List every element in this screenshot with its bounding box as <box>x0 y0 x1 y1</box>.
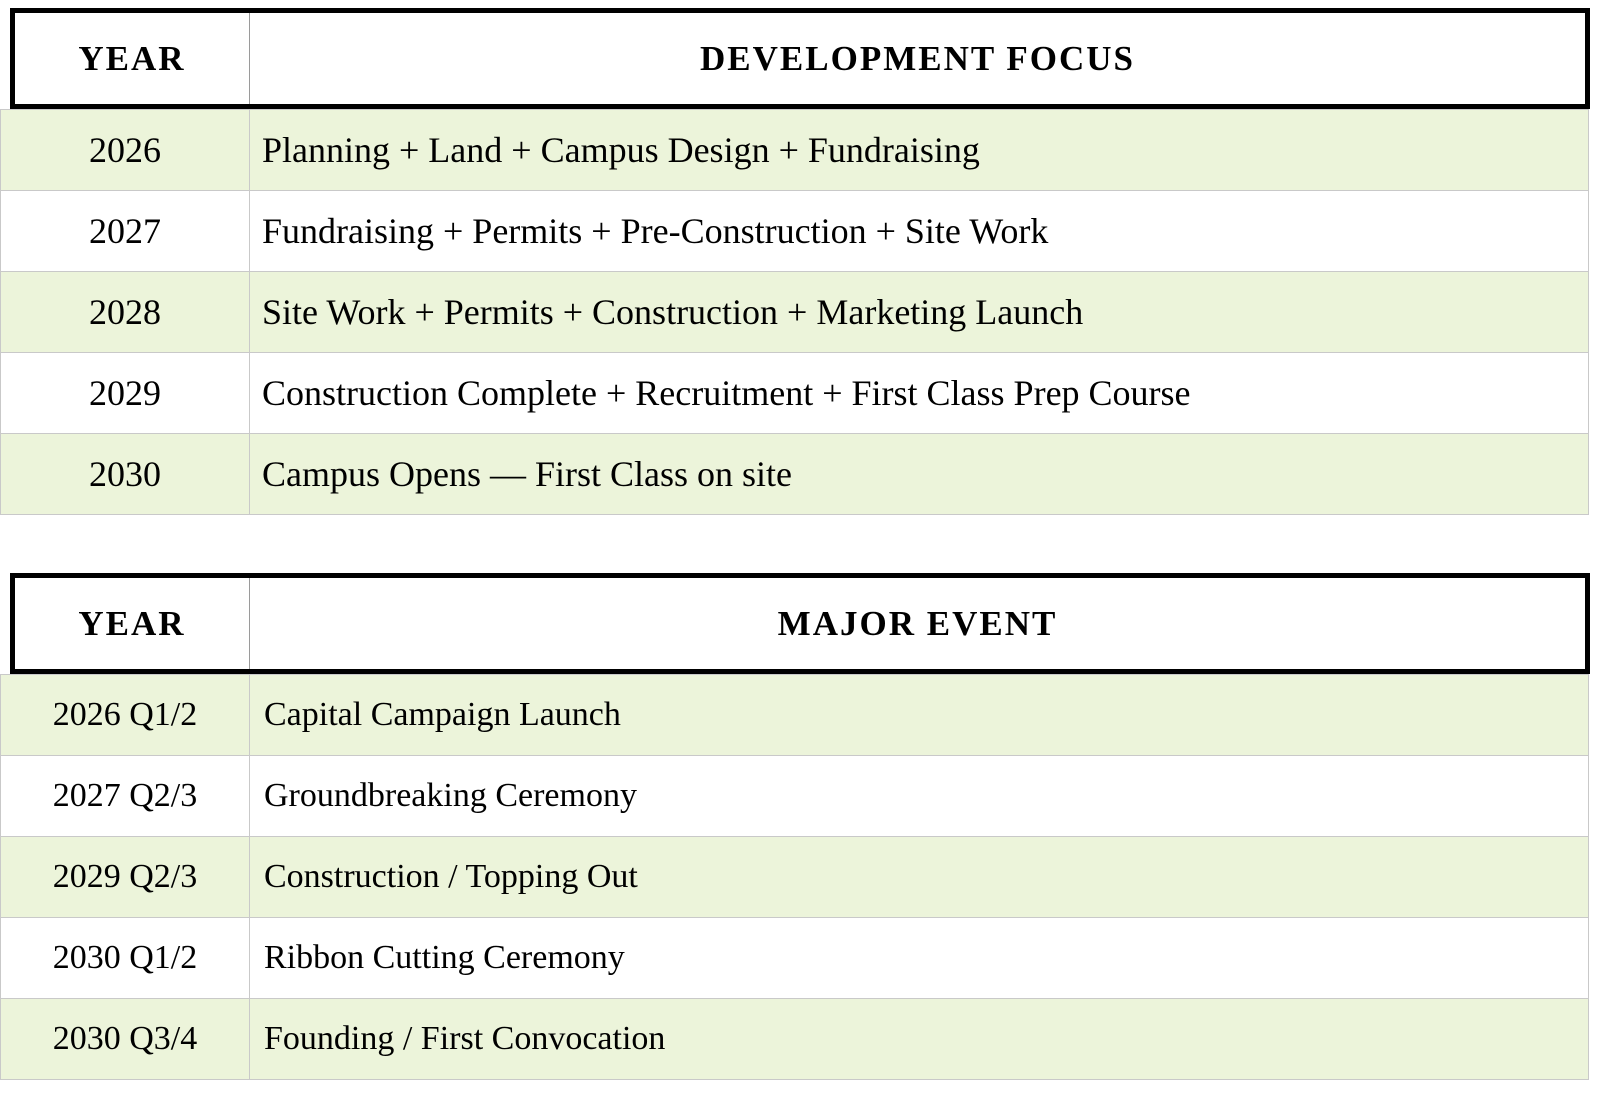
cell-major-event: Ribbon Cutting Ceremony <box>250 918 1588 998</box>
column-header-major-event-label: MAJOR EVENT <box>778 606 1058 641</box>
table-body: 2026 Planning + Land + Campus Design + F… <box>0 109 1589 515</box>
column-header-year: YEAR <box>15 13 250 104</box>
document-page: YEAR DEVELOPMENT FOCUS 2026 Planning + L… <box>0 0 1600 1119</box>
cell-year: 2030 Q1/2 <box>1 918 250 998</box>
cell-development-focus: Fundraising + Permits + Pre-Construction… <box>250 191 1588 271</box>
column-header-year: YEAR <box>15 578 250 669</box>
cell-year: 2030 Q3/4 <box>1 999 250 1079</box>
table-row: 2026 Planning + Land + Campus Design + F… <box>1 109 1588 190</box>
column-header-major-event: MAJOR EVENT <box>250 578 1585 669</box>
table-row: 2028 Site Work + Permits + Construction … <box>1 271 1588 352</box>
cell-development-focus: Campus Opens — First Class on site <box>250 434 1588 514</box>
table-row: 2026 Q1/2 Capital Campaign Launch <box>1 674 1588 755</box>
major-events-table: YEAR MAJOR EVENT 2026 Q1/2 Capital Campa… <box>0 573 1600 1080</box>
cell-year: 2028 <box>1 272 250 352</box>
cell-year: 2029 Q2/3 <box>1 837 250 917</box>
cell-development-focus: Construction Complete + Recruitment + Fi… <box>250 353 1588 433</box>
cell-development-focus: Site Work + Permits + Construction + Mar… <box>250 272 1588 352</box>
cell-year: 2029 <box>1 353 250 433</box>
table-body: 2026 Q1/2 Capital Campaign Launch 2027 Q… <box>0 674 1589 1080</box>
cell-year: 2026 <box>1 110 250 190</box>
cell-year: 2027 Q2/3 <box>1 756 250 836</box>
column-header-development-focus-label: DEVELOPMENT FOCUS <box>700 41 1135 76</box>
cell-development-focus: Planning + Land + Campus Design + Fundra… <box>250 110 1588 190</box>
table-row: 2030 Campus Opens — First Class on site <box>1 433 1588 514</box>
column-header-year-label: YEAR <box>78 41 185 76</box>
table-row: 2027 Q2/3 Groundbreaking Ceremony <box>1 755 1588 836</box>
cell-major-event: Construction / Topping Out <box>250 837 1588 917</box>
column-header-year-label: YEAR <box>78 606 185 641</box>
table-row: 2027 Fundraising + Permits + Pre-Constru… <box>1 190 1588 271</box>
cell-year: 2027 <box>1 191 250 271</box>
cell-major-event: Capital Campaign Launch <box>250 675 1588 755</box>
cell-year: 2026 Q1/2 <box>1 675 250 755</box>
table-header-row: YEAR MAJOR EVENT <box>10 573 1590 674</box>
cell-year: 2030 <box>1 434 250 514</box>
table-row: 2030 Q1/2 Ribbon Cutting Ceremony <box>1 917 1588 998</box>
table-row: 2030 Q3/4 Founding / First Convocation <box>1 998 1588 1079</box>
table-header-row: YEAR DEVELOPMENT FOCUS <box>10 8 1590 109</box>
column-header-development-focus: DEVELOPMENT FOCUS <box>250 13 1585 104</box>
cell-major-event: Founding / First Convocation <box>250 999 1588 1079</box>
cell-major-event: Groundbreaking Ceremony <box>250 756 1588 836</box>
development-focus-table: YEAR DEVELOPMENT FOCUS 2026 Planning + L… <box>0 8 1600 515</box>
table-row: 2029 Q2/3 Construction / Topping Out <box>1 836 1588 917</box>
table-row: 2029 Construction Complete + Recruitment… <box>1 352 1588 433</box>
